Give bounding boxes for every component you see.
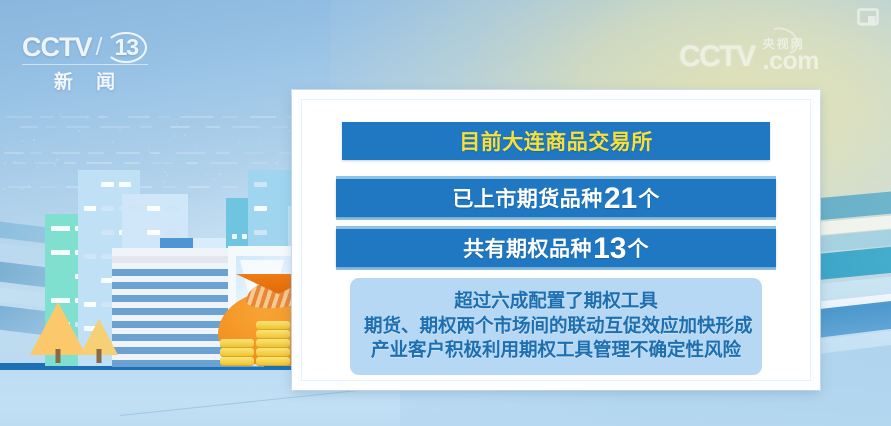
- building-window: [254, 230, 267, 235]
- stat-bar-options-text: 共有期权品种13个: [463, 233, 649, 264]
- channel-logo-cctv: CCTV: [22, 32, 92, 63]
- stat-bar-futures-text: 已上市期货品种21个: [452, 183, 659, 214]
- tree-trunk: [97, 349, 102, 363]
- stat-bar-options: 共有期权品种13个: [336, 226, 776, 270]
- building-window: [232, 234, 237, 239]
- screen-share-icon: [857, 8, 879, 27]
- channel-logo-row-top: CCTV / 13: [22, 32, 148, 63]
- stat-options-prefix: 共有期权品种: [463, 238, 592, 261]
- building-window: [101, 230, 113, 235]
- summary-line-1: 超过六成配置了期权工具: [364, 289, 748, 314]
- building-window: [128, 206, 142, 211]
- summary-line-3: 产业客户积极利用期权工具管理不确定性风险: [364, 338, 748, 363]
- building-window: [254, 182, 267, 187]
- stat-bar-futures: 已上市期货品种21个: [336, 176, 776, 220]
- title-bar-text: 目前大连商品交易所: [459, 126, 653, 156]
- stat-bar-options-edge: 共有期权品种13个: [336, 226, 776, 270]
- coin: [220, 348, 254, 357]
- stat-futures-suffix: 个: [638, 188, 660, 211]
- building-window: [254, 206, 267, 211]
- stat-futures-prefix: 已上市期货品种: [452, 188, 603, 211]
- building-window: [147, 206, 161, 211]
- stat-futures-value: 21: [603, 182, 638, 215]
- title-bar: 目前大连商品交易所: [342, 122, 770, 160]
- building-window: [165, 230, 179, 235]
- building-window: [84, 206, 96, 211]
- coin: [256, 357, 290, 366]
- coin-stack: [256, 321, 290, 366]
- stat-options-value: 13: [592, 232, 627, 265]
- infographic-panel: 目前大连商品交易所 已上市期货品种21个 共有期权品种13个: [292, 90, 820, 390]
- channel-logo-subtitle: 新 闻: [22, 67, 148, 94]
- tree-trunk: [56, 349, 61, 363]
- title-bar-fill: 目前大连商品交易所: [342, 122, 770, 160]
- infographic-panel-inner: 目前大连商品交易所 已上市期货品种21个 共有期权品种13个: [301, 99, 811, 381]
- stat-bar-futures-fill: 已上市期货品种21个: [336, 179, 776, 217]
- coin: [256, 348, 290, 357]
- stat-bar-futures-edge: 已上市期货品种21个: [336, 176, 776, 220]
- channel-logo-underline: [22, 64, 148, 65]
- building-window: [242, 234, 247, 239]
- coin: [220, 339, 254, 348]
- tree-large: [30, 296, 86, 363]
- tree-small: [80, 313, 118, 363]
- building-window: [51, 250, 70, 255]
- stat-bar-options-fill: 共有期权品种13个: [336, 229, 776, 267]
- coin: [220, 357, 254, 366]
- summary-line-2: 期货、期权两个市场间的联动互促效应加快形成: [364, 314, 748, 339]
- broadcast-frame: 目前大连商品交易所 已上市期货品种21个 共有期权品种13个: [0, 0, 891, 426]
- tree-canopy: [30, 302, 86, 355]
- cctv-com-watermark: CCTV 央视网 .com: [679, 38, 819, 74]
- watermark-cctv-text: CCTV: [679, 40, 755, 74]
- stat-options-suffix: 个: [627, 238, 649, 261]
- building-window: [165, 206, 179, 211]
- building-window: [147, 230, 161, 235]
- channel-logo-number: 13: [105, 32, 147, 63]
- channel-logo-slash: /: [96, 33, 102, 62]
- channel-logo: CCTV / 13 新 闻: [22, 32, 148, 94]
- coin: [256, 321, 290, 330]
- building-window: [101, 182, 113, 187]
- building-window: [119, 182, 131, 187]
- building-window: [51, 226, 70, 231]
- building-window: [101, 206, 113, 211]
- summary-paragraph-box: 超过六成配置了期权工具 期货、期权两个市场间的联动互促效应加快形成 产业客户积极…: [350, 278, 762, 375]
- coin: [256, 339, 290, 348]
- building-window: [84, 254, 96, 259]
- coin-stack: [220, 339, 254, 366]
- coin: [256, 330, 290, 339]
